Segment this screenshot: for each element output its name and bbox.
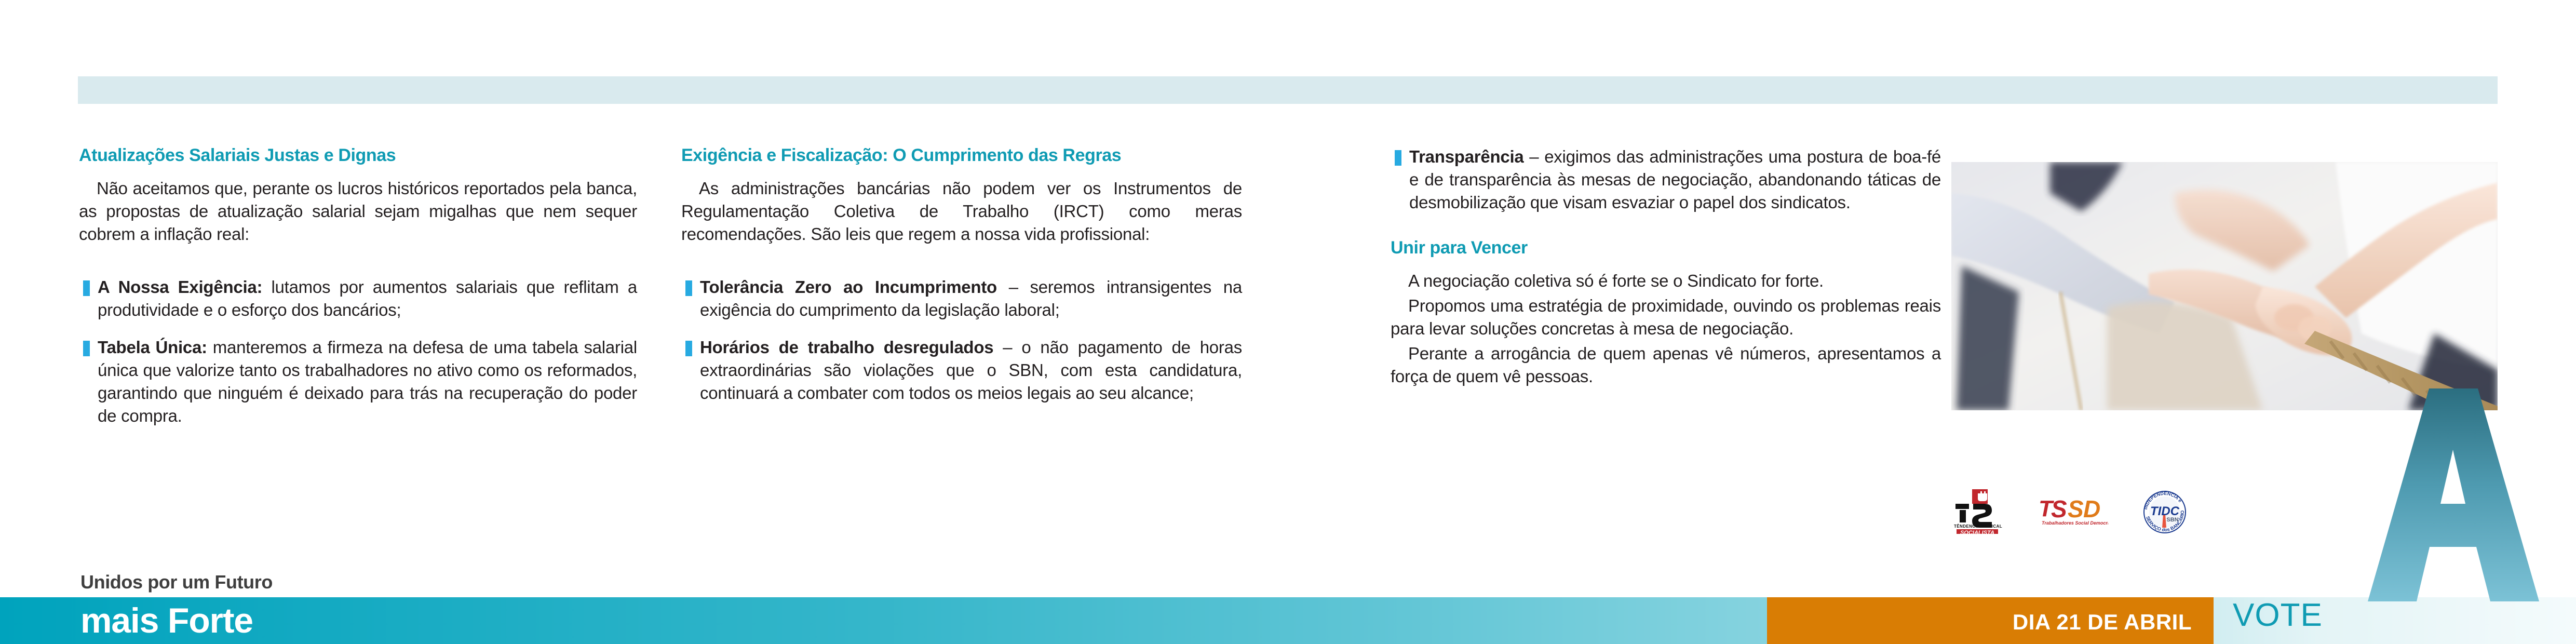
svg-text:S: S	[2051, 495, 2067, 522]
tidc-logo: TIDC SBN INDEPENDÊNCIA e SERVIÇO dos BAN…	[2141, 488, 2188, 534]
list-letter-a	[2368, 388, 2539, 601]
svg-text:S: S	[2068, 495, 2084, 522]
paragraph-enforcement-intro: As administrações bancárias não podem ve…	[681, 177, 1242, 246]
content-column-1: Atualizações Salariais Justas e Dignas N…	[79, 145, 637, 427]
slogan-big: mais Forte	[80, 602, 253, 639]
section-title-salaries: Atualizações Salariais Justas e Dignas	[79, 145, 637, 166]
bullet-item: Transparência – exigimos das administraç…	[1391, 145, 1941, 214]
tendencia-sindical-socialista-logo: TÊNDENCIA SINDICAL SOCIALISTA	[1952, 488, 2002, 534]
bullet-square-icon	[1395, 150, 1401, 166]
svg-text:TÊNDENCIA: TÊNDENCIA	[1954, 524, 1980, 529]
section-title-enforcement: Exigência e Fiscalização: O Cumprimento …	[681, 145, 1242, 166]
paragraph-salaries-intro: Não aceitamos que, perante os lucros his…	[79, 177, 637, 246]
logos-row: TÊNDENCIA SINDICAL SOCIALISTA T S S D Tr…	[1952, 487, 2202, 535]
bullet-item: Tolerância Zero ao Incumprimento – serem…	[681, 276, 1242, 321]
section-title-unite: Unir para Vencer	[1391, 238, 1941, 258]
rope-pulling-photo	[1951, 162, 2498, 410]
paragraph-unite-1: A negociação coletiva só é forte se o Si…	[1391, 270, 1941, 292]
bullet-item: Tabela Única: manteremos a firmeza na de…	[79, 336, 637, 427]
content-column-2: Exigência e Fiscalização: O Cumprimento …	[681, 145, 1242, 405]
bullet-item: A Nossa Exigência: lutamos por aumentos …	[79, 276, 637, 321]
svg-text:D: D	[2083, 495, 2100, 522]
bullet-lead: Transparência	[1409, 147, 1524, 166]
poster-page: Atualizações Salariais Justas e Dignas N…	[0, 0, 2576, 644]
bullet-square-icon	[685, 341, 692, 356]
bullet-square-icon	[685, 280, 692, 296]
content-column-3: Transparência – exigimos das administraç…	[1391, 145, 1941, 390]
election-date: DIA 21 DE ABRIL	[2013, 610, 2192, 635]
tsd-logo: T S S D Trabalhadores Social Democratas	[2035, 493, 2108, 529]
bullet-square-icon	[83, 280, 90, 296]
paragraph-unite-2: Propomos uma estratégia de proximidade, …	[1391, 294, 1941, 340]
date-band: DIA 21 DE ABRIL	[1767, 597, 2214, 644]
paragraph-unite-3: Perante a arrogância de quem apenas vê n…	[1391, 342, 1941, 388]
bullet-item: Horários de trabalho desregulados – o nã…	[681, 336, 1242, 405]
bullet-lead: Tolerância Zero ao Incumprimento	[700, 277, 997, 297]
top-decorative-bar	[78, 76, 2498, 104]
svg-text:SOCIALISTA: SOCIALISTA	[1960, 530, 1994, 534]
bullet-lead: Horários de trabalho desregulados	[700, 338, 993, 357]
svg-text:Trabalhadores Social Democrata: Trabalhadores Social Democratas	[2042, 520, 2108, 526]
svg-text:TIDC: TIDC	[2150, 504, 2180, 518]
vote-label: VOTE	[2233, 597, 2323, 634]
bullet-lead: Tabela Única:	[98, 338, 207, 357]
slogan-small: Unidos por um Futuro	[80, 571, 273, 593]
bullet-lead: A Nossa Exigência:	[98, 277, 262, 297]
svg-text:SINDICAL: SINDICAL	[1981, 524, 2002, 529]
bullet-square-icon	[83, 341, 90, 356]
